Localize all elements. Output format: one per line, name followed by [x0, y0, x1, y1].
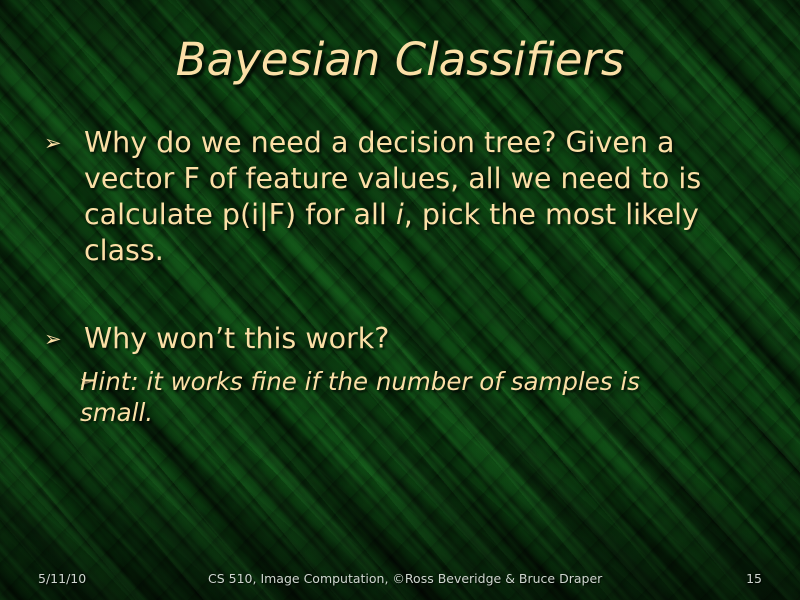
slide-title: Bayesian Classifiers — [0, 36, 800, 85]
sub-bullet-item-1: ➢ Hint: it works fine if the number of s… — [36, 366, 760, 428]
slide-content: Bayesian Classifiers ➢ Why do we need a … — [0, 0, 800, 600]
bullet-item-2-text: Why won’t this work? — [84, 321, 760, 357]
footer-attribution: CS 510, Image Computation, ©Ross Beverid… — [86, 571, 746, 586]
presentation-slide: Bayesian Classifiers ➢ Why do we need a … — [0, 0, 800, 600]
bullet-1-italic-variable: i — [396, 198, 404, 231]
bullet-item-2: ➢ Why won’t this work? — [36, 321, 760, 357]
bullet-gap-spacer — [36, 269, 760, 321]
arrowhead-bullet-icon: ➢ — [36, 125, 84, 161]
slide-footer: 5/11/10 CS 510, Image Computation, ©Ross… — [38, 569, 762, 587]
footer-date: 5/11/10 — [38, 571, 86, 586]
arrowhead-sub-bullet-icon: ➢ — [36, 366, 80, 397]
bullet-item-1: ➢ Why do we need a decision tree? Given … — [36, 125, 760, 269]
arrowhead-bullet-icon: ➢ — [36, 321, 84, 357]
slide-body-list: ➢ Why do we need a decision tree? Given … — [36, 125, 760, 428]
bullet-item-1-text: Why do we need a decision tree? Given a … — [84, 125, 760, 269]
sub-bullet-item-1-text: Hint: it works fine if the number of sam… — [80, 366, 760, 428]
footer-page-number: 15 — [746, 571, 762, 586]
